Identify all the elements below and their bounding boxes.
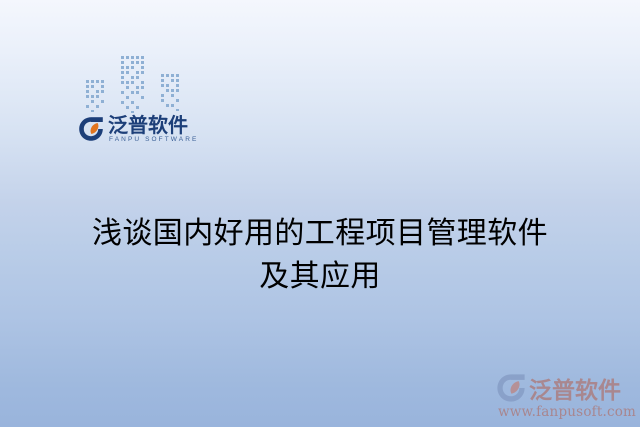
watermark-url: www.fanpusoft.com bbox=[496, 404, 638, 420]
watermark: 泛普软件 www.fanpusoft.com bbox=[496, 371, 638, 420]
presentation-slide: 泛普软件 FANPU SOFTWARE 浅谈国内好用的工程项目管理软件 及其应用… bbox=[0, 0, 640, 427]
pixel-skyline-icon bbox=[76, 52, 196, 114]
fanpu-watermark-mark-icon bbox=[496, 373, 526, 403]
slide-title-line-1: 浅谈国内好用的工程项目管理软件 bbox=[0, 212, 640, 255]
logo-lockup: 泛普软件 FANPU SOFTWARE bbox=[78, 115, 198, 144]
slide-title: 浅谈国内好用的工程项目管理软件 及其应用 bbox=[0, 212, 640, 298]
brand-name-en: FANPU SOFTWARE bbox=[109, 137, 198, 144]
fanpu-logo-mark-icon bbox=[78, 116, 104, 142]
watermark-name-cn: 泛普软件 bbox=[529, 371, 621, 405]
brand-logo-block: 泛普软件 FANPU SOFTWARE bbox=[74, 52, 198, 144]
slide-title-line-2: 及其应用 bbox=[0, 255, 640, 298]
brand-name-cn: 泛普软件 bbox=[108, 115, 198, 135]
watermark-lockup: 泛普软件 bbox=[496, 371, 638, 405]
